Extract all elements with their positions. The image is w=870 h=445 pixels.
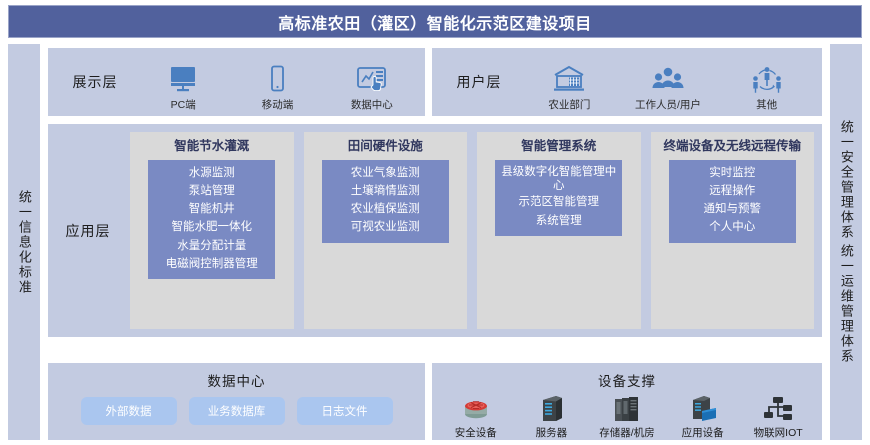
data-center-pill-log-files[interactable]: 日志文件 — [297, 397, 393, 425]
user-item-agriculture-dept-label: 农业部门 — [548, 97, 590, 112]
app-card-items: 水源监测 泵站管理 智能机井 智能水肥一体化 水量分配计量 电磁阀控制器管理 — [148, 160, 275, 280]
app-card-items: 农业气象监测 土壤墒情监测 农业植保监测 可视农业监测 — [322, 160, 449, 243]
app-item[interactable]: 远程操作 — [709, 183, 755, 200]
app-card-field-hardware: 田间硬件设施 农业气象监测 土壤墒情监测 农业植保监测 可视农业监测 — [304, 132, 468, 329]
rail-right-label-security: 统一安全管理体系 — [839, 120, 853, 240]
display-item-mobile[interactable]: 移动端 — [234, 63, 320, 112]
app-card-smart-irrigation: 智能节水灌溉 水源监测 泵站管理 智能机井 智能水肥一体化 水量分配计量 电磁阀… — [130, 132, 294, 329]
app-item[interactable]: 水源监测 — [189, 165, 235, 182]
app-item[interactable]: 智能机井 — [189, 201, 235, 218]
app-item[interactable]: 示范区智能管理 — [519, 194, 600, 211]
app-item[interactable]: 实时监控 — [709, 165, 755, 182]
architecture-diagram: 高标准农田（灌区）智能化示范区建设项目 统一信息化标准 统一安全管理体系 统一运… — [0, 0, 870, 445]
app-card-items: 实时监控 远程操作 通知与预警 个人中心 — [669, 160, 796, 243]
app-item[interactable]: 智能水肥一体化 — [172, 219, 253, 236]
device-item-security[interactable]: 安全设备 — [439, 392, 513, 440]
dashboard-touch-icon — [356, 63, 388, 95]
display-item-pc[interactable]: PC端 — [140, 63, 226, 112]
device-support-title: 设备支撑 — [432, 363, 822, 390]
device-item-storage-label: 存储器/机房 — [599, 425, 654, 440]
storage-rack-icon — [611, 392, 643, 424]
government-building-icon — [552, 63, 586, 95]
app-item[interactable]: 农业气象监测 — [351, 165, 420, 182]
display-item-data-center-label: 数据中心 — [351, 97, 393, 112]
app-server-screen-icon — [687, 392, 719, 424]
user-item-other[interactable]: 其他 — [724, 63, 810, 112]
application-layer-band: 应用层 智能节水灌溉 水源监测 泵站管理 智能机井 智能水肥一体化 水量分配计量… — [48, 124, 822, 337]
iot-network-icon — [762, 392, 794, 424]
user-layer-label: 用户层 — [438, 72, 520, 92]
user-item-other-label: 其他 — [756, 97, 777, 112]
app-item[interactable]: 水量分配计量 — [177, 238, 246, 255]
display-layer-label: 展示层 — [54, 72, 136, 92]
app-card-title: 智能节水灌溉 — [174, 139, 249, 155]
app-card-title: 智能管理系统 — [521, 139, 596, 155]
rail-unified-management-systems: 统一安全管理体系 统一运维管理体系 — [830, 44, 862, 440]
app-card-title: 终端设备及无线远程传输 — [663, 139, 801, 155]
app-item[interactable]: 通知与预警 — [704, 201, 762, 218]
display-layer-band: 展示层 PC端 — [48, 48, 425, 116]
device-item-iot[interactable]: 物联网IOT — [741, 392, 815, 440]
app-item[interactable]: 泵站管理 — [189, 183, 235, 200]
display-item-data-center[interactable]: 数据中心 — [329, 63, 415, 112]
device-item-iot-label: 物联网IOT — [754, 425, 803, 440]
app-item[interactable]: 可视农业监测 — [351, 219, 420, 236]
device-item-security-label: 安全设备 — [455, 425, 497, 440]
page-title: 高标准农田（灌区）智能化示范区建设项目 — [278, 10, 592, 34]
user-item-staff-users[interactable]: 工作人员/用户 — [625, 63, 711, 112]
firewall-router-icon — [459, 392, 493, 424]
user-layer-band: 用户层 农业部门 — [432, 48, 822, 116]
device-item-storage[interactable]: 存储器/机房 — [590, 392, 664, 440]
device-support-band: 设备支撑 安全设备 — [432, 363, 822, 440]
app-item[interactable]: 个人中心 — [709, 219, 755, 236]
data-center-pill-external[interactable]: 外部数据 — [81, 397, 177, 425]
display-item-pc-label: PC端 — [171, 97, 196, 112]
app-item[interactable]: 农业植保监测 — [351, 201, 420, 218]
mobile-icon — [262, 63, 292, 95]
rail-left-label: 统一信息化标准 — [17, 190, 31, 295]
data-center-title: 数据中心 — [48, 363, 425, 390]
app-card-smart-management-system: 智能管理系统 县级数字化智能管理中心 示范区智能管理 系统管理 — [477, 132, 641, 329]
device-item-application[interactable]: 应用设备 — [666, 392, 740, 440]
app-card-title: 田间硬件设施 — [348, 139, 423, 155]
application-layer-label: 应用层 — [48, 124, 128, 337]
device-item-application-label: 应用设备 — [682, 425, 724, 440]
diagram-title-bar: 高标准农田（灌区）智能化示范区建设项目 — [8, 5, 862, 38]
app-item[interactable]: 县级数字化智能管理中心 — [498, 165, 619, 194]
users-group-icon — [651, 63, 685, 95]
server-tower-icon — [536, 392, 566, 424]
device-item-server[interactable]: 服务器 — [514, 392, 588, 440]
data-center-pill-business-db[interactable]: 业务数据库 — [189, 397, 285, 425]
device-item-server-label: 服务器 — [536, 425, 568, 440]
user-item-staff-users-label: 工作人员/用户 — [635, 97, 701, 112]
app-card-items: 县级数字化智能管理中心 示范区智能管理 系统管理 — [495, 160, 622, 236]
rail-unified-informatization-standard: 统一信息化标准 — [8, 44, 40, 440]
monitor-icon — [168, 63, 198, 95]
app-card-terminal-wireless: 终端设备及无线远程传输 实时监控 远程操作 通知与预警 个人中心 — [651, 132, 815, 329]
app-item[interactable]: 电磁阀控制器管理 — [166, 256, 258, 273]
app-item[interactable]: 系统管理 — [536, 213, 582, 230]
display-item-mobile-label: 移动端 — [262, 97, 294, 112]
people-cycle-icon — [750, 63, 784, 95]
user-item-agriculture-dept[interactable]: 农业部门 — [526, 63, 612, 112]
rail-right-label-operations: 统一运维管理体系 — [839, 244, 853, 364]
data-center-band: 数据中心 外部数据 业务数据库 日志文件 — [48, 363, 425, 440]
app-item[interactable]: 土壤墒情监测 — [351, 183, 420, 200]
